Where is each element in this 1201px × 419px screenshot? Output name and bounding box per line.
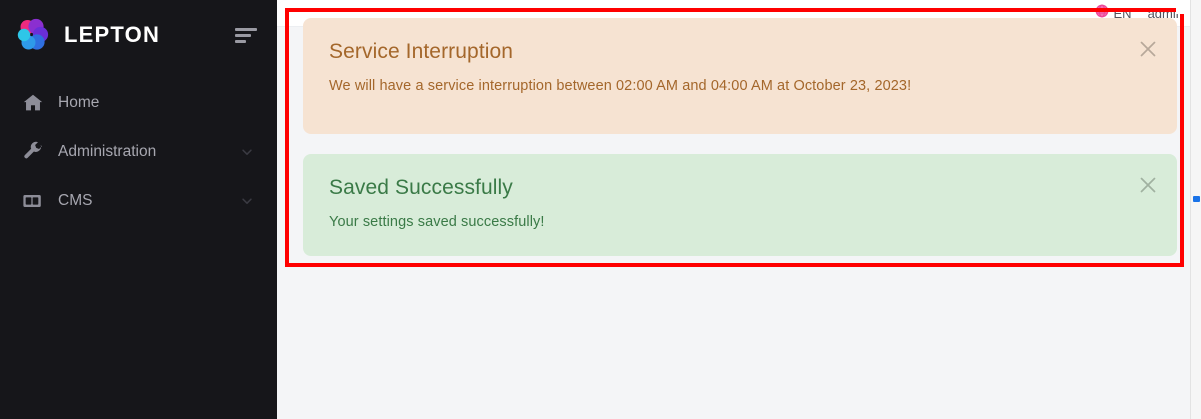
scrollbar-marker <box>1193 196 1200 202</box>
app-root: LEPTON Home Administr <box>0 0 1201 419</box>
sidebar-nav: Home Administration <box>0 70 277 225</box>
alert-message: Your settings saved successfully! <box>329 214 1153 230</box>
alert-saved-successfully: Saved Successfully Your settings saved s… <box>303 154 1177 256</box>
alert-message: We will have a service interruption betw… <box>329 78 1153 94</box>
alert-list: Service Interruption We will have a serv… <box>303 18 1177 276</box>
sidebar-item-label: Administration <box>58 143 239 161</box>
vertical-scrollbar[interactable] <box>1190 0 1201 419</box>
home-icon <box>22 92 44 114</box>
close-x-icon[interactable] <box>1137 38 1159 60</box>
alert-service-interruption: Service Interruption We will have a serv… <box>303 18 1177 134</box>
brand-title: LEPTON <box>64 22 235 48</box>
alert-title: Service Interruption <box>329 40 1153 64</box>
close-x-icon[interactable] <box>1137 174 1159 196</box>
sidebar-item-home[interactable]: Home <box>0 78 277 127</box>
main-content: EN admin Service Interruption We will ha… <box>277 0 1201 419</box>
hamburger-align-left-icon[interactable] <box>235 26 257 44</box>
sidebar-brand: LEPTON <box>0 0 277 70</box>
chevron-down-icon[interactable] <box>239 193 255 209</box>
wrench-icon <box>22 141 44 163</box>
chevron-down-icon[interactable] <box>239 144 255 160</box>
sidebar-item-cms[interactable]: CMS <box>0 176 277 225</box>
sidebar: LEPTON Home Administr <box>0 0 277 419</box>
alert-title: Saved Successfully <box>329 176 1153 200</box>
window-corner <box>1176 0 1190 14</box>
sidebar-item-label: Home <box>58 94 255 112</box>
id-card-icon <box>22 190 44 212</box>
lepton-pinwheel-logo <box>14 15 54 55</box>
sidebar-item-label: CMS <box>58 192 239 210</box>
sidebar-item-administration[interactable]: Administration <box>0 127 277 176</box>
